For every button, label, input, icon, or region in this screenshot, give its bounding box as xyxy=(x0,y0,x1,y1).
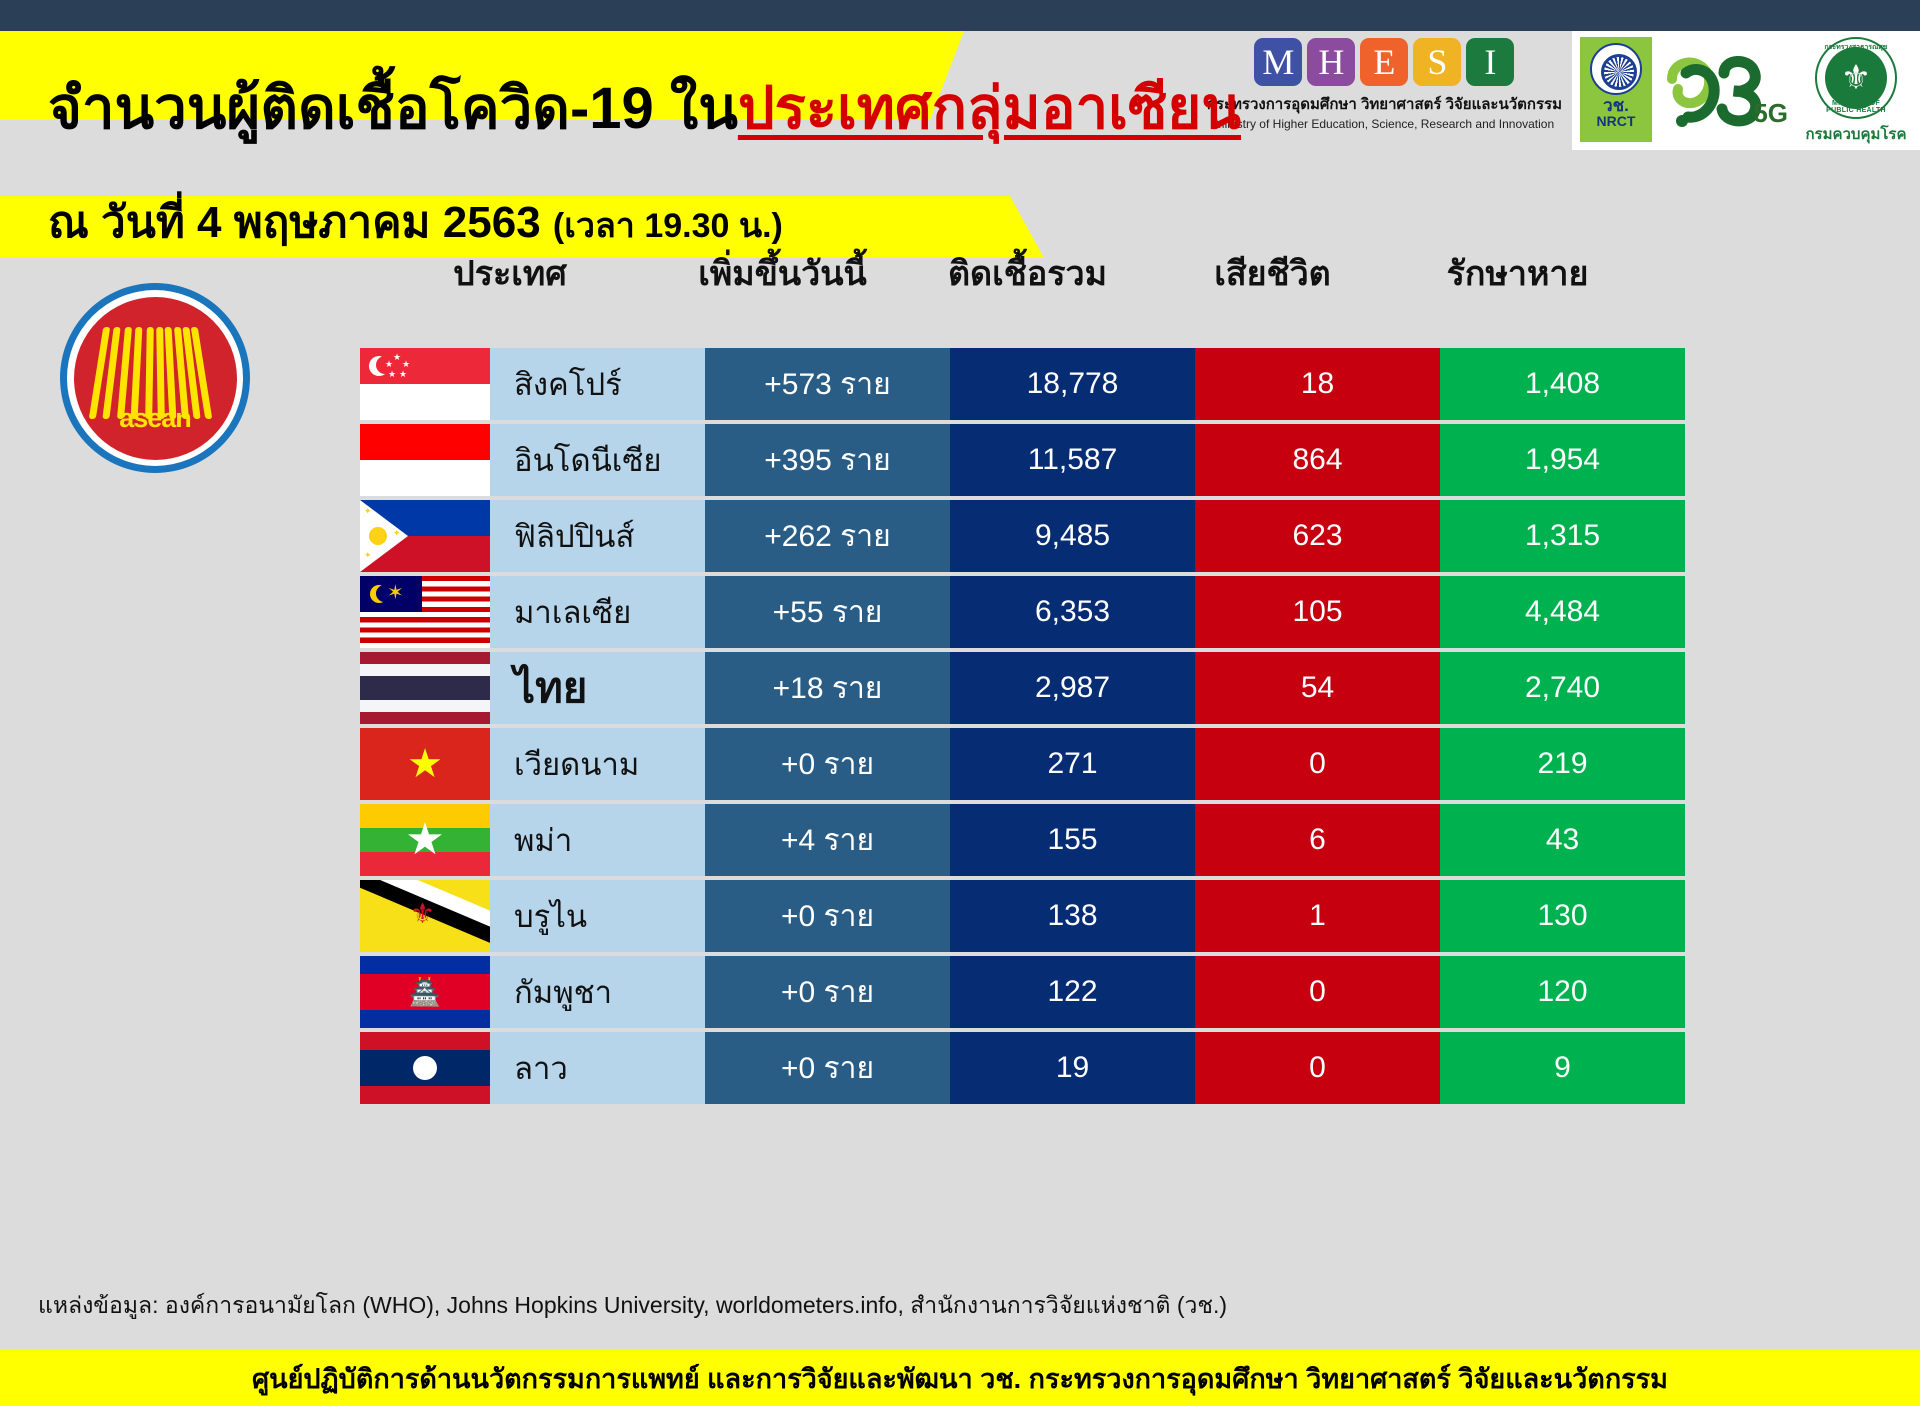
nrct-logo: วช. NRCT xyxy=(1580,37,1652,142)
star-icon: ✦ xyxy=(393,528,401,539)
crest-icon: ⚜ xyxy=(410,900,435,928)
country-flag-cell: ⚜ xyxy=(360,880,490,952)
wch-5g-label: 5G xyxy=(1753,98,1788,129)
table-row: ★เวียดนาม+0 ราย2710219 xyxy=(360,728,1840,800)
recovered-cell: 1,408 xyxy=(1440,348,1685,420)
total-cases-cell: 6,353 xyxy=(950,576,1195,648)
recovered-cell: 1,315 xyxy=(1440,500,1685,572)
deaths-cell: 864 xyxy=(1195,424,1440,496)
new-cases-cell: +0 ราย xyxy=(705,956,950,1028)
country-name-cell: บรูไน xyxy=(490,880,705,952)
partner-logos: วช. NRCT 5G กระทรวงสาธารณสุข ⚜ MINISTRY … xyxy=(1572,31,1920,150)
total-cases-cell: 18,778 xyxy=(950,348,1195,420)
mhesi-letter-h: H xyxy=(1307,38,1355,86)
infographic-page: จำนวนผู้ติดเชื้อโควิด-19 ในประเทศกลุ่มอา… xyxy=(0,0,1920,1406)
new-cases-cell: +55 ราย xyxy=(705,576,950,648)
total-cases-cell: 138 xyxy=(950,880,1195,952)
mhesi-thai-name: กระทรวงการอุดมศึกษา วิทยาศาสตร์ วิจัยและ… xyxy=(1207,92,1562,116)
moph-caption: กรมควบคุมโรค xyxy=(1805,122,1906,146)
flag-laos xyxy=(360,1032,490,1104)
white-disc-icon xyxy=(413,1056,437,1080)
title-highlight: ประเทศกลุ่มอาเซียน xyxy=(738,76,1241,141)
table-row: ★★★★★สิงคโปร์+573 ราย18,778181,408 xyxy=(360,348,1840,420)
country-name-cell: อินโดนีเซีย xyxy=(490,424,705,496)
new-cases-cell: +0 ราย xyxy=(705,1032,950,1104)
table-row: ไทย+18 ราย2,987542,740 xyxy=(360,652,1840,724)
moph-seal-top-text: กระทรวงสาธารณสุข xyxy=(1817,42,1895,53)
sun-icon xyxy=(369,527,387,545)
asean-wordmark: asean xyxy=(74,403,237,434)
source-line: แหล่งข้อมูล: องค์การอนามัยโลก (WHO), Joh… xyxy=(38,1288,1227,1324)
country-name-cell: สิงคโปร์ xyxy=(490,348,705,420)
country-flag-cell: ✦✦✦ xyxy=(360,500,490,572)
mhesi-letter-blocks: M H E S I xyxy=(1254,38,1514,86)
deaths-cell: 54 xyxy=(1195,652,1440,724)
new-cases-cell: +262 ราย xyxy=(705,500,950,572)
deaths-cell: 0 xyxy=(1195,728,1440,800)
flag-blue-band xyxy=(360,676,490,700)
star-icon: ★ xyxy=(407,744,443,784)
deaths-cell: 0 xyxy=(1195,956,1440,1028)
new-cases-cell: +18 ราย xyxy=(705,652,950,724)
new-cases-cell: +395 ราย xyxy=(705,424,950,496)
total-cases-cell: 2,987 xyxy=(950,652,1195,724)
country-name-cell: พม่า xyxy=(490,804,705,876)
country-flag-cell: ★ xyxy=(360,728,490,800)
star-icon: ✶ xyxy=(387,583,404,603)
star-icon: ★ xyxy=(385,360,393,369)
subtitle-time: (เวลา 19.30 น.) xyxy=(553,207,783,245)
recovered-cell: 4,484 xyxy=(1440,576,1685,648)
new-cases-cell: +0 ราย xyxy=(705,880,950,952)
star-icon: ✦ xyxy=(364,506,372,517)
recovered-cell: 219 xyxy=(1440,728,1685,800)
flag-canton: ✶ xyxy=(360,576,422,612)
crescent-icon xyxy=(370,585,388,603)
column-header-deaths: เสียชีวิต xyxy=(1150,244,1395,304)
subtitle-date: ณ วันที่ 4 พฤษภาคม 2563 xyxy=(48,198,541,247)
total-cases-cell: 11,587 xyxy=(950,424,1195,496)
flag-cambodia: 🏯 xyxy=(360,956,490,1028)
column-header-country: ประเทศ xyxy=(360,244,660,304)
table-row: ⚜บรูไน+0 ราย1381130 xyxy=(360,880,1840,952)
deaths-cell: 1 xyxy=(1195,880,1440,952)
recovered-cell: 120 xyxy=(1440,956,1685,1028)
column-header-total-cases: ติดเชื้อรวม xyxy=(905,244,1150,304)
star-icon: ★ xyxy=(405,818,444,862)
flag-thailand xyxy=(360,652,490,724)
recovered-cell: 1,954 xyxy=(1440,424,1685,496)
flag-red-band: 🏯 xyxy=(360,974,490,1010)
country-flag-cell xyxy=(360,1032,490,1104)
asean-red-disc: asean xyxy=(74,297,237,460)
deaths-cell: 105 xyxy=(1195,576,1440,648)
column-header-recovered: รักษาหาย xyxy=(1395,244,1640,304)
mhesi-letter-i: I xyxy=(1466,38,1514,86)
star-icon: ★ xyxy=(402,360,410,369)
total-cases-cell: 19 xyxy=(950,1032,1195,1104)
moph-logo: กระทรวงสาธารณสุข ⚜ MINISTRY OF PUBLIC HE… xyxy=(1800,37,1912,146)
angkor-wat-icon: 🏯 xyxy=(409,979,441,1005)
table-header-row: ประเทศ เพิ่มขึ้นวันนี้ ติดเชื้อรวม เสียช… xyxy=(360,244,1840,304)
new-cases-cell: +573 ราย xyxy=(705,348,950,420)
page-title: จำนวนผู้ติดเชื้อโควิด-19 ในประเทศกลุ่มอา… xyxy=(48,80,1241,138)
nrct-seal-icon xyxy=(1590,43,1642,95)
total-cases-cell: 122 xyxy=(950,956,1195,1028)
table-row: 🏯กัมพูชา+0 ราย1220120 xyxy=(360,956,1840,1028)
table-row: ลาว+0 ราย1909 xyxy=(360,1032,1840,1104)
new-cases-cell: +0 ราย xyxy=(705,728,950,800)
table-row: ✶มาเลเซีย+55 ราย6,3531054,484 xyxy=(360,576,1840,648)
moph-seal-icon: กระทรวงสาธารณสุข ⚜ MINISTRY OF PUBLIC HE… xyxy=(1815,37,1897,119)
table-row: อินโดนีเซีย+395 ราย11,5878641,954 xyxy=(360,424,1840,496)
country-flag-cell: ★★★★★ xyxy=(360,348,490,420)
flag-brunei: ⚜ xyxy=(360,880,490,952)
country-name-cell: ไทย xyxy=(490,652,705,724)
table-row: ★พม่า+4 ราย155643 xyxy=(360,804,1840,876)
recovered-cell: 130 xyxy=(1440,880,1685,952)
table-row: ✦✦✦ฟิลิปปินส์+262 ราย9,4856231,315 xyxy=(360,500,1840,572)
country-flag-cell: ✶ xyxy=(360,576,490,648)
recovered-cell: 9 xyxy=(1440,1032,1685,1104)
country-name-cell: มาเลเซีย xyxy=(490,576,705,648)
star-icon: ★ xyxy=(393,353,401,362)
deaths-cell: 623 xyxy=(1195,500,1440,572)
flag-malaysia: ✶ xyxy=(360,576,490,648)
mhesi-english-name: Ministry of Higher Education, Science, R… xyxy=(1215,117,1555,131)
star-icon: ★ xyxy=(399,370,407,379)
top-dark-bar xyxy=(0,0,1920,31)
logo-strip: M H E S I กระทรวงการอุดมศึกษา วิทยาศาสตร… xyxy=(1207,31,1920,156)
nrct-thai-abbr: วช. xyxy=(1603,97,1629,114)
total-cases-cell: 9,485 xyxy=(950,500,1195,572)
country-flag-cell: 🏯 xyxy=(360,956,490,1028)
flag-myanmar: ★ xyxy=(360,804,490,876)
star-icon: ✦ xyxy=(364,550,372,561)
flag-vietnam: ★ xyxy=(360,728,490,800)
star-icon: ★ xyxy=(388,370,396,379)
flag-indonesia xyxy=(360,424,490,496)
country-flag-cell xyxy=(360,652,490,724)
mhesi-letter-m: M xyxy=(1254,38,1302,86)
mhesi-letter-s: S xyxy=(1413,38,1461,86)
flag-white-band xyxy=(360,700,490,712)
flag-blue-band xyxy=(360,1050,490,1086)
country-flag-cell: ★ xyxy=(360,804,490,876)
country-name-cell: เวียดนาม xyxy=(490,728,705,800)
country-name-cell: ฟิลิปปินส์ xyxy=(490,500,705,572)
country-flag-cell xyxy=(360,424,490,496)
asean-white-ring: asean xyxy=(67,290,243,466)
new-cases-cell: +4 ราย xyxy=(705,804,950,876)
country-name-cell: กัมพูชา xyxy=(490,956,705,1028)
total-cases-cell: 155 xyxy=(950,804,1195,876)
page-subtitle: ณ วันที่ 4 พฤษภาคม 2563 (เวลา 19.30 น.) xyxy=(48,198,783,249)
total-cases-cell: 271 xyxy=(950,728,1195,800)
moph-seal-bottom-text: MINISTRY OF PUBLIC HEALTH xyxy=(1817,100,1895,114)
recovered-cell: 43 xyxy=(1440,804,1685,876)
bottom-bar: ศูนย์ปฏิบัติการด้านนวัตกรรมการแพทย์ และก… xyxy=(0,1350,1920,1406)
deaths-cell: 6 xyxy=(1195,804,1440,876)
table-body: ★★★★★สิงคโปร์+573 ราย18,778181,408อินโดน… xyxy=(360,348,1840,1108)
nrct-english-abbr: NRCT xyxy=(1597,114,1636,129)
column-header-new-cases: เพิ่มขึ้นวันนี้ xyxy=(660,244,905,304)
country-name-cell: ลาว xyxy=(490,1032,705,1104)
asean-emblem-icon: asean xyxy=(60,283,250,473)
title-prefix: จำนวนผู้ติดเชื้อโควิด-19 ใน xyxy=(48,76,738,141)
deaths-cell: 18 xyxy=(1195,348,1440,420)
mhesi-logo: M H E S I กระทรวงการอุดมศึกษา วิทยาศาสตร… xyxy=(1207,31,1572,131)
wch-5g-logo: 5G xyxy=(1662,43,1790,135)
flag-white-band xyxy=(360,664,490,676)
mhesi-letter-e: E xyxy=(1360,38,1408,86)
bottom-bar-text: ศูนย์ปฏิบัติการด้านนวัตกรรมการแพทย์ และก… xyxy=(252,1357,1668,1400)
flag-philippines: ✦✦✦ xyxy=(360,500,490,572)
recovered-cell: 2,740 xyxy=(1440,652,1685,724)
flag-singapore: ★★★★★ xyxy=(360,348,490,420)
deaths-cell: 0 xyxy=(1195,1032,1440,1104)
